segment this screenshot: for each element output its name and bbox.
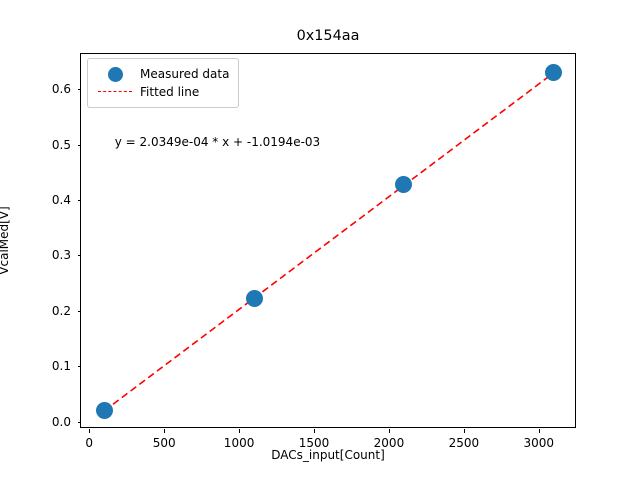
y-tick [78,89,82,90]
circle-marker-icon [96,65,134,83]
y-tick [78,311,82,312]
y-tick-label: 0.0 [52,415,71,429]
x-tick [389,429,390,433]
plot-axes-area: y = 2.0349e-04 * x + -1.0194e-03 Measure… [80,53,576,428]
page-title: 0x154aa [80,28,576,44]
x-tick [239,429,240,433]
fit-equation-annotation: y = 2.0349e-04 * x + -1.0194e-03 [115,135,320,149]
y-tick [78,200,82,201]
y-tick-label: 0.5 [52,138,71,152]
data-point [96,402,113,419]
x-tick [314,429,315,433]
fitted-line-layer [81,54,575,427]
y-tick-label: 0.3 [52,248,71,262]
x-tick [539,429,540,433]
x-tick [89,429,90,433]
x-tick [164,429,165,433]
data-point [246,290,263,307]
legend-label-measured-data: Measured data [134,67,229,81]
fitted-line [104,73,554,411]
dashed-line-icon [96,83,134,101]
y-tick [78,366,82,367]
legend-label-fitted-line: Fitted line [134,85,199,99]
legend-item-fitted-line: Fitted line [96,83,229,101]
chart-legend: Measured data Fitted line [87,58,239,108]
plot-data-region [81,54,575,427]
y-tick-label: 0.4 [52,193,71,207]
y-tick [78,422,82,423]
matplotlib-figure: 0x154aa y = 2.0349e-04 * x + -1.0194e-03… [0,0,640,480]
y-tick [78,145,82,146]
y-axis-label: VcalMed[V] [0,53,13,428]
y-tick-label: 0.1 [52,359,71,373]
legend-item-measured-data: Measured data [96,65,229,83]
y-tick [78,255,82,256]
y-tick-label: 0.6 [52,82,71,96]
x-axis-label: DACs_input[Count] [80,448,576,462]
y-tick-label: 0.2 [52,304,71,318]
x-tick [464,429,465,433]
